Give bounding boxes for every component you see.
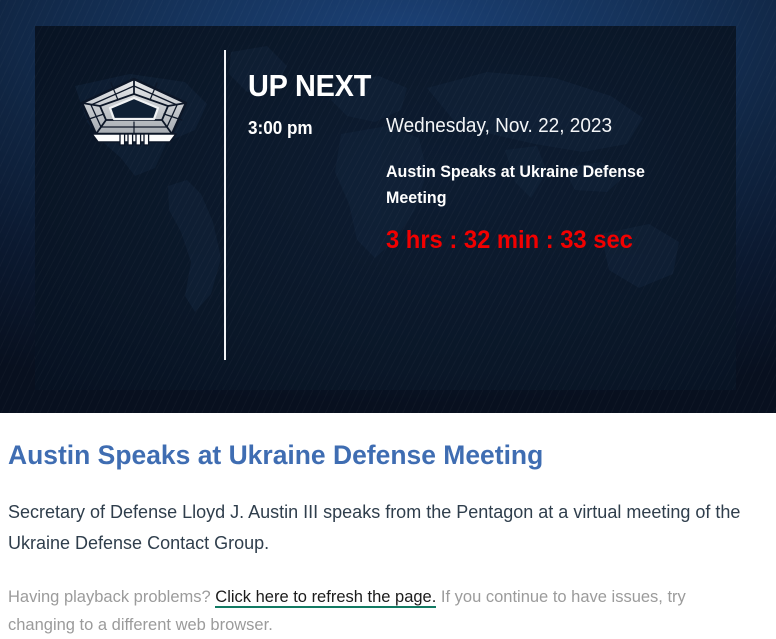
event-time: 3:00 pm bbox=[248, 119, 313, 137]
vertical-divider bbox=[224, 50, 226, 360]
up-next-label: UP NEXT bbox=[248, 70, 371, 101]
event-title: Austin Speaks at Ukraine Defense Meeting bbox=[386, 159, 687, 211]
event-date: Wednesday, Nov. 22, 2023 bbox=[386, 116, 612, 136]
playback-note-prefix: Having playback problems? bbox=[8, 588, 215, 606]
article-description: Secretary of Defense Lloyd J. Austin III… bbox=[8, 497, 756, 559]
playback-help-note: Having playback problems? Click here to … bbox=[8, 583, 756, 639]
up-next-stage: UP NEXT 3:00 pm Wednesday, Nov. 22, 2023… bbox=[35, 26, 736, 390]
article-section: Austin Speaks at Ukraine Defense Meeting… bbox=[0, 413, 776, 639]
page-title: Austin Speaks at Ukraine Defense Meeting bbox=[8, 441, 741, 471]
video-player[interactable]: UP NEXT 3:00 pm Wednesday, Nov. 22, 2023… bbox=[0, 0, 776, 413]
refresh-page-link[interactable]: Click here to refresh the page. bbox=[215, 588, 436, 608]
countdown-timer: 3 hrs : 32 min : 33 sec bbox=[386, 228, 633, 253]
pentagon-seal-icon bbox=[78, 76, 190, 146]
